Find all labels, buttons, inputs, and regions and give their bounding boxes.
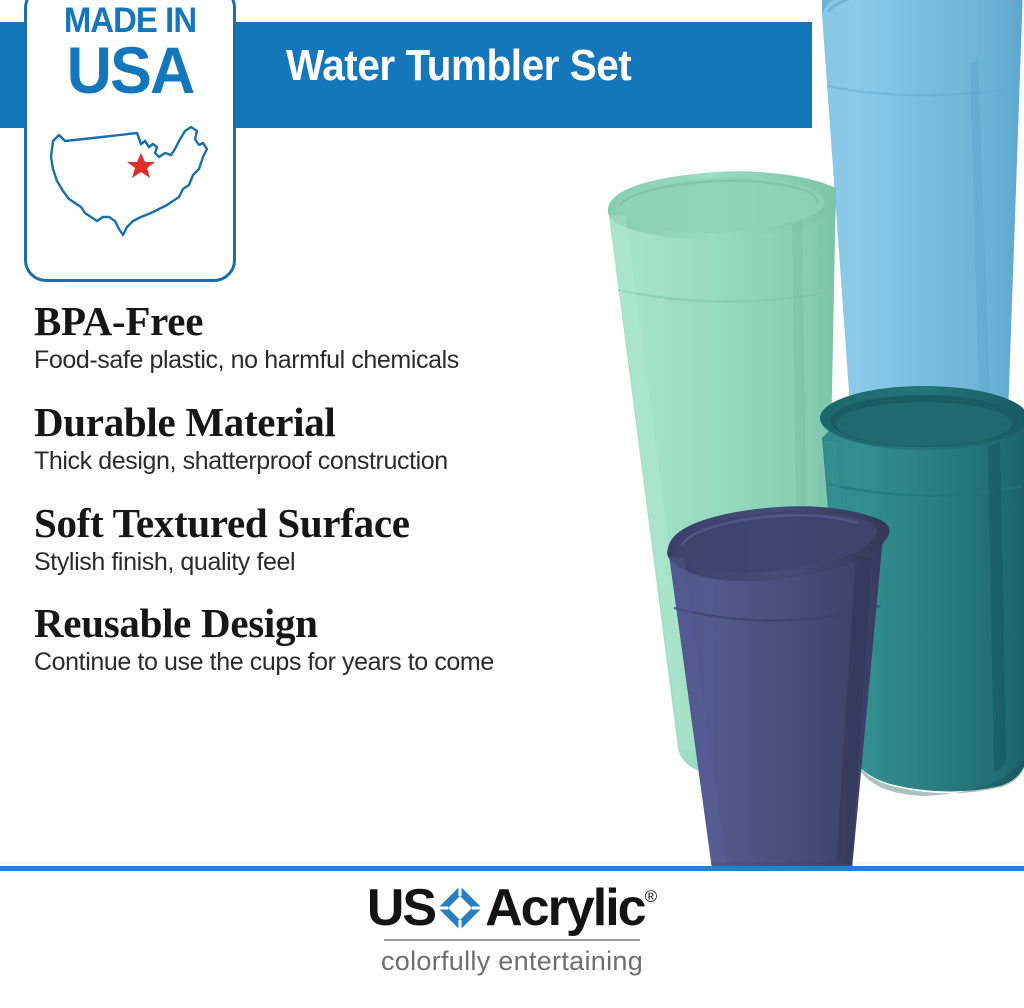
feature-subtitle: Continue to use the cups for years to co… xyxy=(34,648,594,677)
logo-acrylic-text: Acrylic xyxy=(485,882,644,934)
feature-item: Soft Textured Surface Stylish finish, qu… xyxy=(34,502,594,577)
us-map-outline-icon xyxy=(41,117,225,247)
feature-subtitle: Thick design, shatterproof construction xyxy=(34,447,594,476)
feature-title: BPA-Free xyxy=(34,300,594,343)
diamond-icon xyxy=(437,885,483,931)
mint-green-tumbler xyxy=(608,171,836,780)
registered-trademark-mark: ® xyxy=(645,888,658,905)
star-marker xyxy=(127,153,155,178)
feature-item: Durable Material Thick design, shatterpr… xyxy=(34,401,594,476)
feature-subtitle: Stylish finish, quality feel xyxy=(34,548,594,577)
feature-subtitle: Food-safe plastic, no harmful chemicals xyxy=(34,346,594,375)
us-acrylic-logo: US Acrylic ® xyxy=(367,880,657,936)
product-infographic: Water Tumbler Set MADE IN USA BPA-Free F… xyxy=(0,0,1024,1008)
logo-us-text: US xyxy=(367,882,435,934)
brand-tagline: colorfully entertaining xyxy=(0,947,1024,977)
teal-tumbler xyxy=(820,386,1024,796)
feature-title: Durable Material xyxy=(34,401,594,444)
made-in-usa-badge: MADE IN USA xyxy=(24,0,236,282)
footer-divider xyxy=(0,866,1024,871)
brand-footer: US Acrylic ® colorfully entertaining xyxy=(0,880,1024,977)
feature-item: Reusable Design Continue to use the cups… xyxy=(34,602,594,677)
badge-usa-label: USA xyxy=(32,37,228,103)
navy-blue-tumbler xyxy=(667,506,889,869)
light-blue-tumbler xyxy=(822,0,1024,588)
page-title: Water Tumbler Set xyxy=(286,44,631,88)
feature-title: Reusable Design xyxy=(34,602,594,645)
feature-item: BPA-Free Food-safe plastic, no harmful c… xyxy=(34,300,594,375)
feature-title: Soft Textured Surface xyxy=(34,502,594,545)
feature-list: BPA-Free Food-safe plastic, no harmful c… xyxy=(34,300,594,703)
logo-rule xyxy=(384,939,640,941)
